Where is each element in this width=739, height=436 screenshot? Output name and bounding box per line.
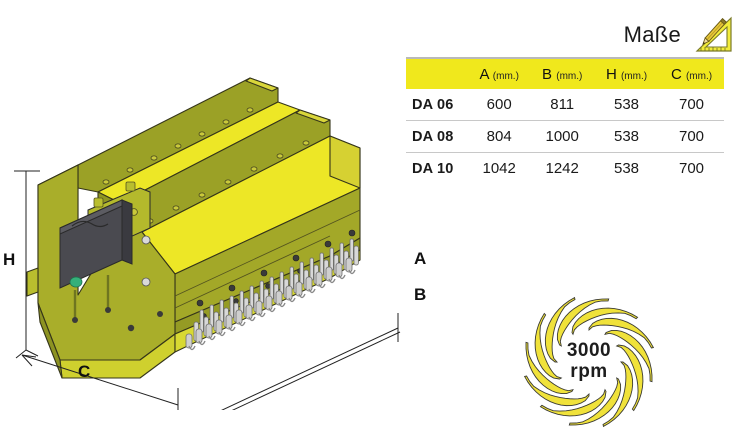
row-1-c: 700: [659, 121, 724, 153]
dimension-label-a: A: [414, 249, 426, 269]
col-c-symbol: C: [671, 66, 682, 83]
col-a-symbol: A: [479, 66, 488, 83]
col-b-unit: (mm.): [556, 71, 582, 82]
row-0-c: 700: [659, 89, 724, 121]
row-0-h: 538: [594, 89, 659, 121]
row-2-h: 538: [594, 153, 659, 185]
col-b-symbol: B: [542, 66, 552, 83]
row-1-b: 1000: [530, 121, 594, 153]
dimension-label-c: C: [78, 362, 90, 382]
row-2-c: 700: [659, 153, 724, 185]
page-title-block: Maße: [560, 12, 735, 58]
page-root: Maße: [0, 0, 739, 436]
dimension-label-b: B: [414, 285, 426, 305]
col-h-unit: (mm.): [621, 71, 647, 82]
dimension-label-h: H: [3, 250, 15, 270]
table-col-c: C (mm.): [659, 58, 724, 89]
row-1-h: 538: [594, 121, 659, 153]
table-col-h: H (mm.): [594, 58, 659, 89]
page-title: Maße: [624, 22, 681, 48]
table-col-b: B (mm.): [530, 58, 594, 89]
col-h-symbol: H: [606, 66, 617, 83]
rpm-badge: 3000 rpm: [513, 292, 665, 432]
row-2-b: 1242: [530, 153, 594, 185]
flail-mower-mulcher-3d-view: [0, 60, 480, 410]
col-a-unit: (mm.): [493, 71, 519, 82]
rotor-swirl-icon: [513, 292, 665, 432]
row-0-b: 811: [530, 89, 594, 121]
col-c-unit: (mm.): [686, 71, 712, 82]
set-square-ruler-pencil-icon: [691, 15, 735, 55]
